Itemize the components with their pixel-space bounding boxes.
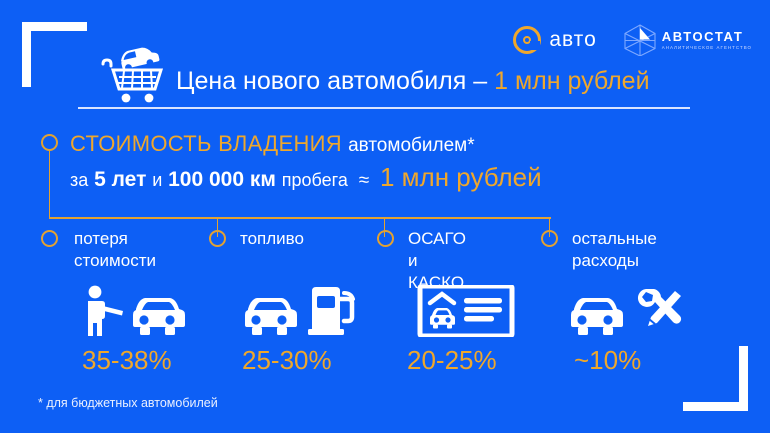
logo-avto: авто xyxy=(513,26,596,54)
person-and-car-icon xyxy=(78,285,193,337)
category-label-2: топливо xyxy=(240,228,304,250)
root-node-marker xyxy=(41,134,58,151)
ownership-title-rest: автомобилем* xyxy=(348,135,475,156)
ownership-title: СТОИМОСТЬ ВЛАДЕНИЯ автомобилем* xyxy=(70,131,475,157)
ownership-and: и xyxy=(152,170,162,190)
category-label-4: остальные расходы xyxy=(572,228,657,272)
corner-bracket-top-left xyxy=(22,22,87,87)
hexagon-logo-icon xyxy=(623,24,657,56)
category-label-3-line1: ОСАГО и xyxy=(408,229,466,270)
category-label-1-line1: потеря xyxy=(74,229,128,248)
ownership-mileage: 100 000 км xyxy=(168,168,276,191)
category-node-2 xyxy=(209,230,226,247)
car-and-tools-icon xyxy=(570,285,685,337)
car-and-fuel-pump-icon xyxy=(244,285,359,337)
ownership-years: 5 лет xyxy=(94,168,146,191)
category-node-3 xyxy=(377,230,394,247)
headline-dash: – xyxy=(473,67,487,95)
corner-bracket-bottom-right xyxy=(683,346,748,411)
category-label-1-line2: стоимости xyxy=(74,251,156,270)
infographic-canvas: авто АВТОСТАТ АНАЛИТИЧЕСКОЕ АГЕНТСТВ xyxy=(0,0,770,433)
ownership-post: пробега xyxy=(282,170,348,190)
category-label-2-line1: топливо xyxy=(240,229,304,248)
logo-avtostat-subtitle: АНАЛИТИЧЕСКОЕ АГЕНТСТВО xyxy=(662,46,752,50)
category-label-4-line1: остальные xyxy=(572,229,657,248)
footnote: * для бюджетных автомобилей xyxy=(38,396,218,410)
logo-bar: авто АВТОСТАТ АНАЛИТИЧЕСКОЕ АГЕНТСТВ xyxy=(513,24,752,56)
logo-avtostat-title: АВТОСТАТ xyxy=(662,30,752,43)
headline-underline xyxy=(78,107,690,109)
logo-avtostat: АВТОСТАТ АНАЛИТИЧЕСКОЕ АГЕНТСТВО xyxy=(623,24,752,56)
headline-new-car-price: Цена нового автомобиля – 1 млн рублей xyxy=(176,67,650,96)
category-node-1 xyxy=(41,230,58,247)
shopping-cart-with-car-icon xyxy=(97,42,169,104)
ownership-pre: за xyxy=(70,170,88,190)
insurance-policy-icon xyxy=(406,285,521,337)
at-sign-icon xyxy=(513,26,541,54)
category-value-1: 35-38% xyxy=(82,345,172,376)
approx-symbol: ≈ xyxy=(354,170,374,191)
category-value-4: ~10% xyxy=(574,345,641,376)
category-node-4 xyxy=(541,230,558,247)
ownership-amount: 1 млн рублей xyxy=(380,162,542,192)
ownership-subtitle: за 5 лет и 100 000 км пробега ≈ 1 млн ру… xyxy=(70,162,542,193)
category-label-1: потеря стоимости xyxy=(74,228,156,272)
logo-avtostat-text: АВТОСТАТ АНАЛИТИЧЕСКОЕ АГЕНТСТВО xyxy=(662,30,752,50)
connector-vertical-root xyxy=(49,151,51,218)
logo-avto-label: авто xyxy=(549,28,596,52)
headline-amount: 1 млн рублей xyxy=(494,67,649,95)
ownership-title-accent: СТОИМОСТЬ ВЛАДЕНИЯ xyxy=(70,131,342,156)
category-value-2: 25-30% xyxy=(242,345,332,376)
headline-label: Цена нового автомобиля xyxy=(176,67,466,95)
category-value-3: 20-25% xyxy=(407,345,497,376)
category-label-4-line2: расходы xyxy=(572,251,639,270)
connector-horizontal-bar xyxy=(49,217,551,219)
